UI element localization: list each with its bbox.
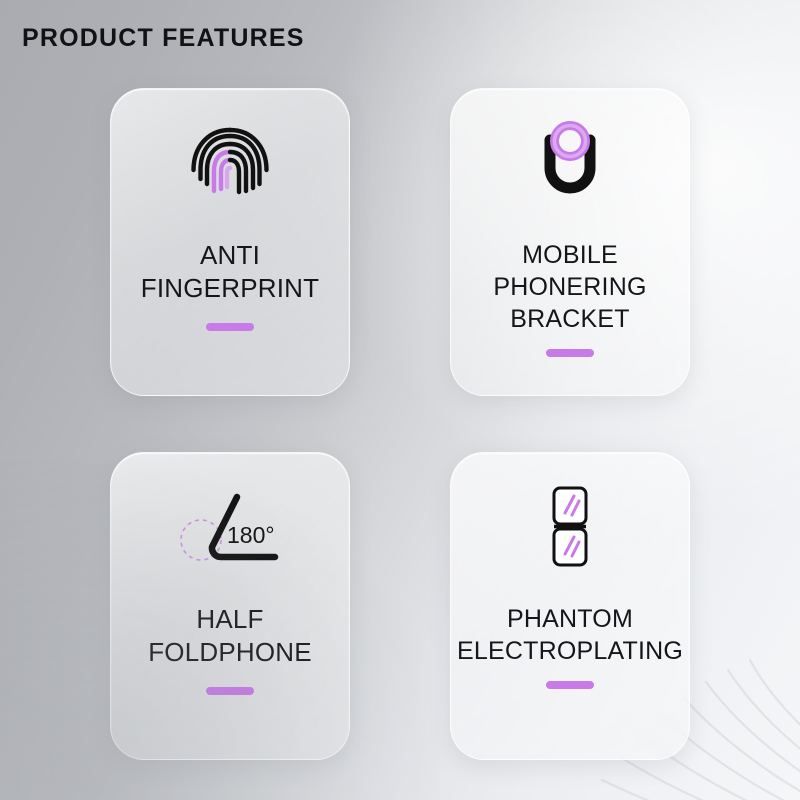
fold-angle-icon: 180° (171, 485, 289, 571)
feature-card-label: HALF FOLDPHONE (111, 603, 349, 669)
accent-bar (206, 687, 254, 695)
icon-slot (451, 453, 689, 603)
feature-card-grid: ANTI FINGERPRINT MOBILE PHONERING BRACKE… (0, 0, 800, 800)
icon-slot (111, 89, 349, 239)
fold-angle-value: 180° (227, 522, 275, 548)
phone-ring-holder-icon (530, 118, 610, 210)
feature-card-phantom-electroplating[interactable]: PHANTOM ELECTROPLATING (450, 452, 690, 760)
icon-slot (451, 89, 689, 239)
accent-bar (546, 681, 594, 689)
folding-panels-icon (541, 482, 599, 574)
feature-poster: PRODUCT FEATURES (0, 0, 800, 800)
feature-card-label: ANTI FINGERPRINT (111, 239, 349, 305)
feature-card-label: MOBILE PHONERING BRACKET (451, 239, 689, 335)
feature-card-label: PHANTOM ELECTROPLATING (451, 603, 689, 667)
feature-card-half-foldphone[interactable]: 180° HALF FOLDPHONE (110, 452, 350, 760)
feature-card-mobile-phonering-bracket[interactable]: MOBILE PHONERING BRACKET (450, 88, 690, 396)
fingerprint-icon (184, 118, 276, 210)
accent-bar (206, 323, 254, 331)
accent-bar (546, 349, 594, 357)
feature-card-anti-fingerprint[interactable]: ANTI FINGERPRINT (110, 88, 350, 396)
icon-slot: 180° (111, 453, 349, 603)
